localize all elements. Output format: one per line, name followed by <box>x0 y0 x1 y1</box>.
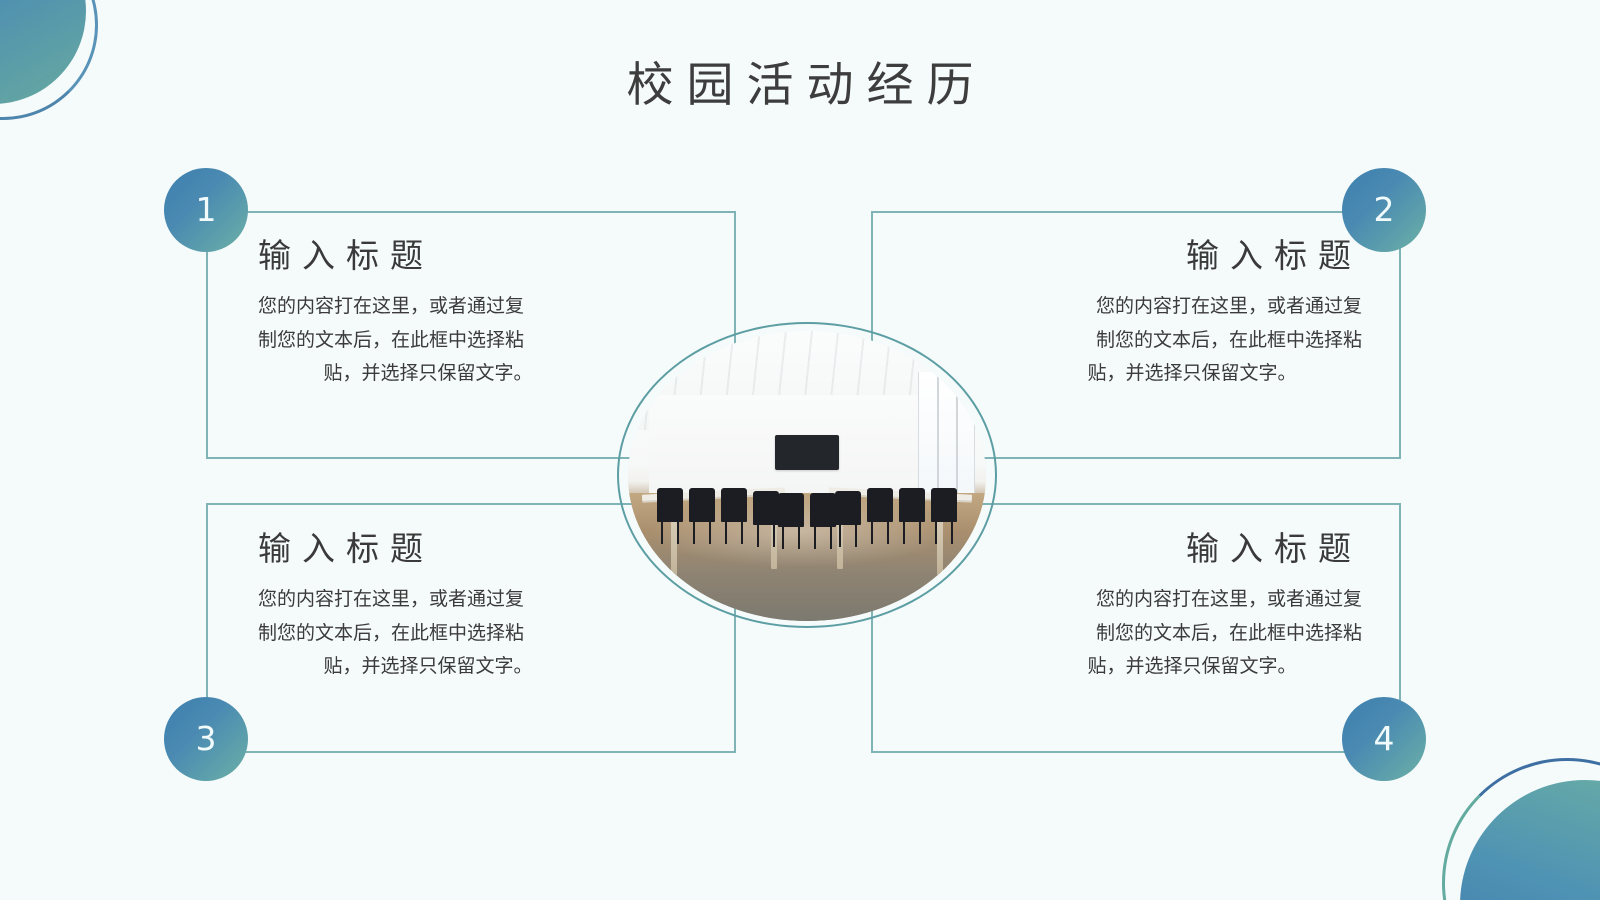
body-line: 贴，并选择只保留文字。 <box>258 357 598 390</box>
chair <box>810 493 836 527</box>
meeting-room-illustration <box>628 331 986 621</box>
chair <box>899 488 925 522</box>
body-line: 贴，并选择只保留文字。 <box>1022 650 1362 683</box>
block-heading-2: 输入标题 <box>1022 235 1362 276</box>
body-line: 贴，并选择只保留文字。 <box>1022 357 1362 390</box>
step-badge-3[interactable]: 3 <box>164 697 248 781</box>
chair <box>867 488 893 522</box>
block-body-2: 您的内容打在这里，或者通过复 制您的文本后，在此框中选择粘 贴，并选择只保留文字… <box>1022 290 1362 390</box>
content-block-2: 输入标题 您的内容打在这里，或者通过复 制您的文本后，在此框中选择粘 贴，并选择… <box>1022 235 1362 390</box>
chair <box>931 488 957 522</box>
decorative-circle-bottom-right <box>1460 780 1600 900</box>
body-line: 制您的文本后，在此框中选择粘 <box>1096 329 1362 351</box>
body-line: 您的内容打在这里，或者通过复 <box>1096 295 1362 317</box>
block-body-3: 您的内容打在这里，或者通过复 制您的文本后，在此框中选择粘 贴，并选择只保留文字… <box>258 583 598 683</box>
content-block-1: 输入标题 您的内容打在这里，或者通过复 制您的文本后，在此框中选择粘 贴，并选择… <box>258 235 598 390</box>
window <box>918 372 975 505</box>
step-badge-4[interactable]: 4 <box>1342 697 1426 781</box>
chair <box>753 491 779 525</box>
body-line: 制您的文本后，在此框中选择粘 <box>1096 622 1362 644</box>
center-image <box>628 331 986 621</box>
block-heading-1: 输入标题 <box>258 235 598 276</box>
content-block-3: 输入标题 您的内容打在这里，或者通过复 制您的文本后，在此框中选择粘 贴，并选择… <box>258 528 598 683</box>
step-badge-2[interactable]: 2 <box>1342 168 1426 252</box>
block-heading-4: 输入标题 <box>1022 528 1362 569</box>
chair <box>689 488 715 522</box>
body-line: 您的内容打在这里，或者通过复 <box>258 588 524 610</box>
tv-screen-icon <box>775 435 839 470</box>
body-line: 您的内容打在这里，或者通过复 <box>1096 588 1362 610</box>
decorative-ring-bottom-right <box>1442 758 1600 900</box>
body-line: 您的内容打在这里，或者通过复 <box>258 295 524 317</box>
chair <box>835 491 861 525</box>
body-line: 制您的文本后，在此框中选择粘 <box>258 622 524 644</box>
slide-canvas: 校园活动经历 <box>0 0 1600 900</box>
content-block-4: 输入标题 您的内容打在这里，或者通过复 制您的文本后，在此框中选择粘 贴，并选择… <box>1022 528 1362 683</box>
body-line: 贴，并选择只保留文字。 <box>258 650 598 683</box>
block-heading-3: 输入标题 <box>258 528 598 569</box>
page-title: 校园活动经历 <box>0 59 1600 113</box>
chair <box>778 493 804 527</box>
body-line: 制您的文本后，在此框中选择粘 <box>258 329 524 351</box>
block-body-4: 您的内容打在这里，或者通过复 制您的文本后，在此框中选择粘 贴，并选择只保留文字… <box>1022 583 1362 683</box>
chair <box>721 488 747 522</box>
step-badge-1[interactable]: 1 <box>164 168 248 252</box>
block-body-1: 您的内容打在这里，或者通过复 制您的文本后，在此框中选择粘 贴，并选择只保留文字… <box>258 290 598 390</box>
chair <box>657 488 683 522</box>
